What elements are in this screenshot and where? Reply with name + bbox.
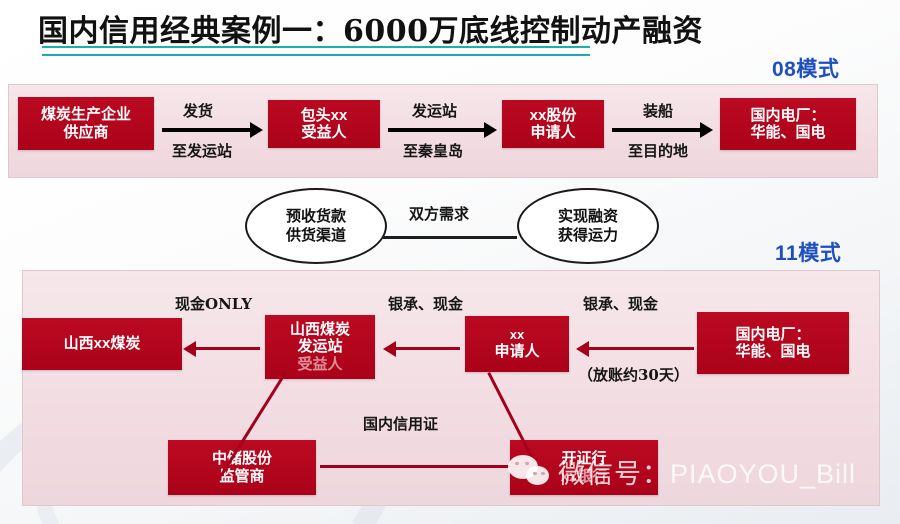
- box-baotou-beneficiary-line1: 包头xx: [301, 107, 348, 124]
- title-underline: [42, 46, 590, 56]
- box-shanxi-station-line2: 发运站: [297, 338, 342, 355]
- box-coal-supplier-line2: 供应商: [63, 124, 108, 141]
- box-xx-applicant[interactable]: xx股份 申请人: [502, 100, 604, 148]
- label-credit-term: （放账约30天）: [578, 364, 689, 385]
- arrow-2-label-below: 至秦皇岛: [403, 140, 463, 161]
- arrow-head-2: [484, 122, 497, 138]
- box-xx-applicant-line2: 申请人: [530, 124, 575, 141]
- arrow-line-11-2: [396, 347, 460, 350]
- oval-prepayment-line1: 预收货款: [286, 207, 346, 226]
- page-title: 国内信用经典案例一：6000万底线控制动产融资: [38, 6, 703, 50]
- box-xx-applicant-11[interactable]: xx 申请人: [465, 316, 569, 372]
- oval-financing-line1: 实现融资: [558, 207, 618, 226]
- arrow-3-label-above: 装船: [643, 100, 673, 121]
- mode-label-08: 08模式: [772, 53, 839, 83]
- arrow-line-3: [612, 128, 700, 132]
- box-shanxi-coal-line1: 山西xx煤炭: [64, 335, 141, 352]
- box-domestic-power-plant-11[interactable]: 国内电厂： 华能、国电: [697, 312, 849, 374]
- box-xx-applicant-11-line1: xx: [510, 328, 524, 343]
- arrow-2-label-above: 发运站: [412, 100, 457, 121]
- oval-connector-label: 双方需求: [409, 203, 469, 224]
- box-supervisor-line1: 中储股份: [212, 450, 272, 467]
- box-coal-supplier[interactable]: 煤炭生产企业 供应商: [18, 97, 154, 150]
- label-acceptance-cash-right: 银承、现金: [583, 293, 658, 314]
- box-coal-supplier-line1: 煤炭生产企业: [41, 106, 131, 123]
- box-domestic-power-plant-11-line2: 华能、国电: [735, 343, 810, 360]
- oval-financing-line2: 获得运力: [558, 226, 618, 245]
- label-domestic-lc: 国内信用证: [363, 413, 438, 434]
- arrow-1-label-above: 发货: [183, 100, 213, 121]
- box-issuing-bank-line2: xx银行: [561, 468, 608, 485]
- arrow-line-1: [162, 128, 250, 132]
- box-domestic-power-plant-11-line1: 国内电厂：: [735, 326, 810, 343]
- oval-prepayment-line2: 供货渠道: [286, 226, 346, 245]
- arrow-line-11-1: [196, 347, 260, 350]
- box-shanxi-coal[interactable]: 山西xx煤炭: [22, 318, 182, 370]
- oval-financing-capacity[interactable]: 实现融资 获得运力: [517, 188, 659, 264]
- box-baotou-beneficiary-line2: 受益人: [301, 124, 346, 141]
- arrow-line-11-3: [589, 347, 694, 350]
- box-issuing-bank[interactable]: 开证行 xx银行: [510, 440, 658, 495]
- slide-canvas: 国内信用经典案例一：6000万底线控制动产融资 08模式 11模式 煤炭生产企业…: [0, 0, 900, 524]
- box-issuing-bank-line1: 开证行: [561, 450, 606, 467]
- box-shanxi-station-line3: 受益人: [297, 356, 342, 373]
- line-domestic-lc: [320, 465, 512, 468]
- arrow-head-3: [700, 122, 713, 138]
- box-domestic-power-plant-08[interactable]: 国内电厂： 华能、国电: [720, 98, 856, 150]
- box-supervisor[interactable]: 中储股份 监管商: [168, 440, 316, 495]
- oval-prepayment-channel[interactable]: 预收货款 供货渠道: [245, 188, 387, 264]
- oval-connector-line: [383, 236, 517, 239]
- arrow-3-label-below: 至目的地: [628, 140, 688, 161]
- box-shanxi-station-beneficiary[interactable]: 山西煤炭 发运站 受益人: [265, 315, 375, 379]
- arrow-head-11-2: [383, 341, 396, 357]
- box-domestic-power-plant-08-line2: 华能、国电: [750, 124, 825, 141]
- box-baotou-beneficiary[interactable]: 包头xx 受益人: [268, 100, 380, 148]
- box-domestic-power-plant-08-line1: 国内电厂：: [750, 107, 825, 124]
- box-xx-applicant-11-line2: 申请人: [494, 343, 539, 360]
- label-cash-only: 现金ONLY: [175, 293, 252, 314]
- box-xx-applicant-line1: xx股份: [530, 107, 577, 124]
- arrow-1-label-below: 至发运站: [172, 140, 232, 161]
- mode-label-11: 11模式: [775, 237, 841, 267]
- arrow-head-11-1: [183, 341, 196, 357]
- arrow-line-2: [388, 128, 484, 132]
- label-acceptance-cash-left: 银承、现金: [388, 293, 463, 314]
- arrow-head-11-3: [576, 341, 589, 357]
- arrow-head-1: [250, 122, 263, 138]
- box-shanxi-station-line1: 山西煤炭: [290, 321, 350, 338]
